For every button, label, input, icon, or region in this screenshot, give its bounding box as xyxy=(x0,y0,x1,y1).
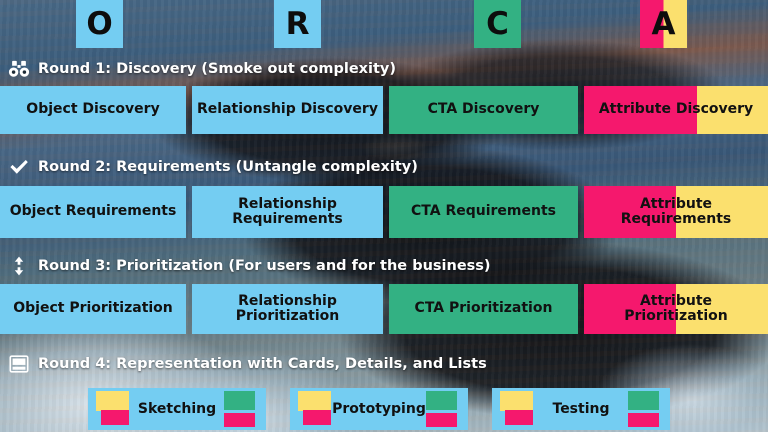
round-3-heading-text: Round 3: Prioritization (For users and f… xyxy=(38,258,491,274)
swatch-green-pink-right xyxy=(626,391,662,427)
cell-attribute-requirements[interactable]: Attribute Requirements xyxy=(584,186,768,238)
cell-object-requirements[interactable]: Object Requirements xyxy=(0,186,186,238)
cell-cta-requirements[interactable]: CTA Requirements xyxy=(389,186,578,238)
cell-cta-discovery[interactable]: CTA Discovery xyxy=(389,86,578,134)
cell-relationship-discovery[interactable]: Relationship Discovery xyxy=(192,86,383,134)
up-down-arrow-icon xyxy=(8,255,30,277)
cell-attribute-discovery[interactable]: Attribute Discovery xyxy=(584,86,768,134)
round-1-header: Round 1: Discovery (Smoke out complexity… xyxy=(8,57,396,81)
rep-card-prototyping[interactable]: Prototyping xyxy=(290,388,468,430)
cell-object-prioritization[interactable]: Object Prioritization xyxy=(0,284,186,334)
round-1-heading-text: Round 1: Discovery (Smoke out complexity… xyxy=(38,61,396,77)
cell-object-discovery[interactable]: Object Discovery xyxy=(0,86,186,134)
round-2-header: Round 2: Requirements (Untangle complexi… xyxy=(8,155,418,179)
header-letter-a: A xyxy=(640,0,687,48)
round-4-header: Round 4: Representation with Cards, Deta… xyxy=(8,352,487,376)
rep-card-testing-label: Testing xyxy=(553,401,610,417)
swatch-yellow-pink-left xyxy=(96,391,132,427)
swatch-green-pink-right xyxy=(222,391,258,427)
header-letter-c: C xyxy=(474,0,521,48)
card-layout-icon xyxy=(8,353,30,375)
binoculars-icon xyxy=(8,58,30,80)
rep-card-testing[interactable]: Testing xyxy=(492,388,670,430)
header-letter-r: R xyxy=(274,0,321,48)
cell-relationship-prioritization[interactable]: Relationship Prioritization xyxy=(192,284,383,334)
round-4-heading-text: Round 4: Representation with Cards, Deta… xyxy=(38,356,487,372)
round-2-heading-text: Round 2: Requirements (Untangle complexi… xyxy=(38,159,418,175)
swatch-green-pink-right xyxy=(424,391,460,427)
swatch-yellow-pink-left xyxy=(500,391,536,427)
rep-card-sketching[interactable]: Sketching xyxy=(88,388,266,430)
checkmark-icon xyxy=(8,156,30,178)
header-letter-o: O xyxy=(76,0,123,48)
rep-card-prototyping-label: Prototyping xyxy=(332,401,426,417)
orca-framework-slide: O R C A Round 1: Discovery (Smoke out co… xyxy=(0,0,768,432)
swatch-yellow-pink-left xyxy=(298,391,334,427)
round-3-header: Round 3: Prioritization (For users and f… xyxy=(8,254,491,278)
cell-relationship-requirements[interactable]: Relationship Requirements xyxy=(192,186,383,238)
cell-attribute-prioritization[interactable]: Attribute Prioritization xyxy=(584,284,768,334)
cell-cta-prioritization[interactable]: CTA Prioritization xyxy=(389,284,578,334)
rep-card-sketching-label: Sketching xyxy=(138,401,216,417)
